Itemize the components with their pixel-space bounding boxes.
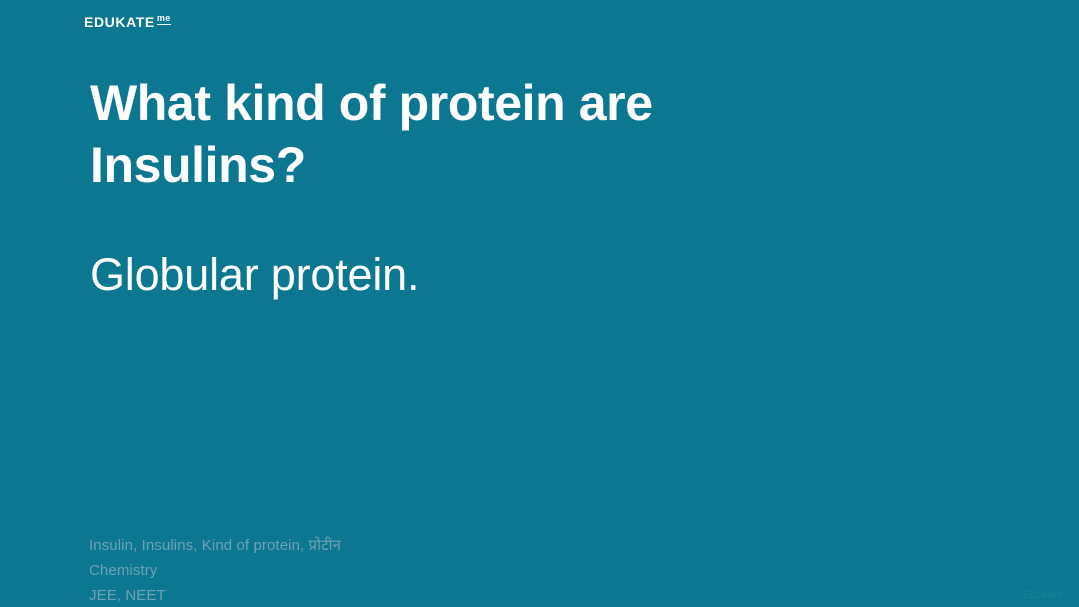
brand-name: EDUKATE bbox=[84, 15, 155, 29]
brand-superscript: me bbox=[157, 14, 171, 25]
answer-text: Globular protein. bbox=[90, 248, 850, 302]
edukate-logo[interactable]: EDUKATE me bbox=[84, 15, 171, 29]
corner-watermark: Edukate bbox=[1023, 590, 1063, 601]
question-line-2: Insulins? bbox=[90, 134, 790, 196]
footer-subject: Chemistry bbox=[89, 558, 341, 583]
footer-exams: JEE, NEET bbox=[89, 583, 341, 607]
question-line-1: What kind of protein are bbox=[90, 72, 790, 134]
footer-metadata: Insulin, Insulins, Kind of protein, प्रो… bbox=[89, 533, 341, 607]
slide-canvas: EDUKATE me What kind of protein are Insu… bbox=[0, 0, 1079, 607]
footer-tags: Insulin, Insulins, Kind of protein, प्रो… bbox=[89, 533, 341, 558]
question-heading: What kind of protein are Insulins? bbox=[90, 72, 790, 196]
